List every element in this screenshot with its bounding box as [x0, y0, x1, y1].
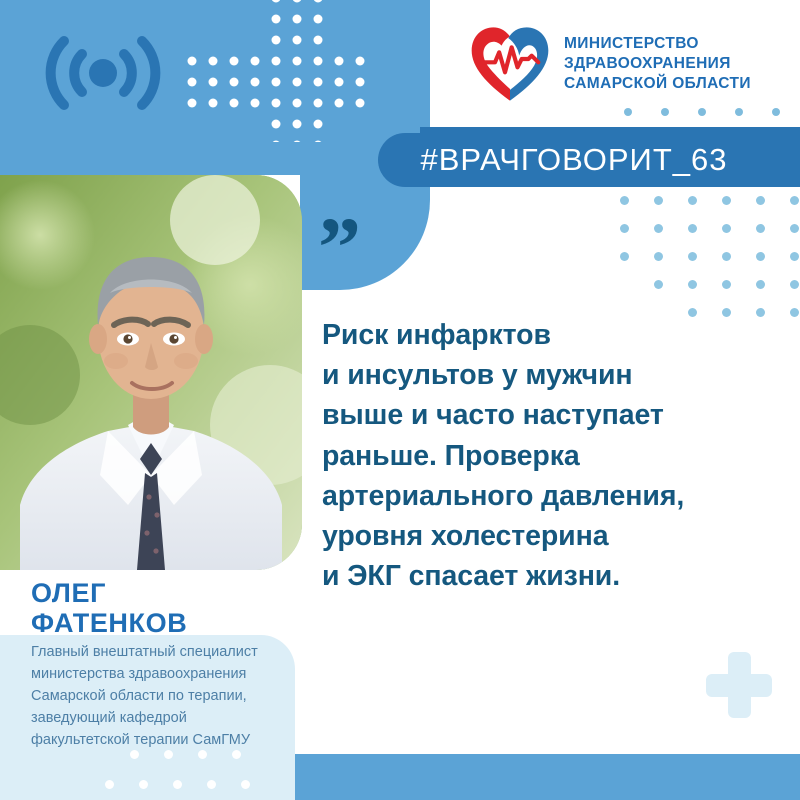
- dot: [772, 108, 780, 116]
- dot: [624, 108, 632, 116]
- hashtag-banner: #ВРАЧГОВОРИТ_63: [378, 133, 800, 187]
- poster-canvas: МИНИСТЕРСТВО ЗДРАВООХРАНЕНИЯ САМАРСКОЙ О…: [0, 0, 800, 800]
- dot-row: [105, 780, 250, 789]
- doctor-credentials: Главный внештатный специалист министерст…: [31, 641, 321, 751]
- dot: [198, 750, 207, 759]
- dot-row: [620, 224, 799, 233]
- heart-ecg-logo: [468, 24, 552, 104]
- logo-dot-row: [624, 108, 780, 116]
- dot: [722, 252, 731, 261]
- dot: [756, 224, 765, 233]
- dot: [756, 252, 765, 261]
- dot: [654, 252, 663, 261]
- dot: [790, 280, 799, 289]
- dot: [207, 780, 216, 789]
- dot: [164, 750, 173, 759]
- dot: [790, 224, 799, 233]
- dot: [735, 108, 743, 116]
- broadcast-signal-icon: [38, 28, 168, 118]
- dot: [173, 780, 182, 789]
- dot-row: [620, 196, 799, 205]
- hashtag-label: #ВРАЧГОВОРИТ_63: [421, 142, 766, 178]
- dot: [722, 224, 731, 233]
- doctor-name: ОЛЕГ ФАТЕНКОВ: [31, 578, 187, 638]
- ministry-line-2: ЗДРАВООХРАНЕНИЯ: [564, 54, 751, 74]
- dot-row: [620, 252, 799, 261]
- dot: [105, 780, 114, 789]
- dot: [790, 196, 799, 205]
- dotted-cross-pattern: [180, 0, 370, 142]
- doctor-portrait-photo: [0, 175, 302, 570]
- dot: [722, 196, 731, 205]
- credentials-dot-grid: [130, 750, 250, 800]
- dot-row: [654, 280, 799, 289]
- dot: [698, 108, 706, 116]
- dot: [620, 252, 629, 261]
- ministry-logo-text: МИНИСТЕРСТВО ЗДРАВООХРАНЕНИЯ САМАРСКОЙ О…: [564, 34, 751, 93]
- dot: [688, 280, 697, 289]
- ministry-line-1: МИНИСТЕРСТВО: [564, 34, 751, 54]
- dot: [688, 196, 697, 205]
- dot: [756, 196, 765, 205]
- dot: [620, 224, 629, 233]
- ministry-logo: МИНИСТЕРСТВО ЗДРАВООХРАНЕНИЯ САМАРСКОЙ О…: [468, 24, 751, 104]
- dot: [241, 780, 250, 789]
- dot: [139, 780, 148, 789]
- dot: [620, 196, 629, 205]
- dot: [654, 224, 663, 233]
- dot: [654, 280, 663, 289]
- dot: [790, 252, 799, 261]
- cross-bar-vertical: [728, 652, 751, 718]
- ministry-line-3: САМАРСКОЙ ОБЛАСТИ: [564, 74, 751, 94]
- dot: [688, 224, 697, 233]
- dot-row: [130, 750, 250, 759]
- quote-text: Риск инфарктов и инсультов у мужчин выше…: [322, 315, 792, 596]
- portrait-illustration: [0, 175, 302, 570]
- dot: [756, 280, 765, 289]
- dot: [130, 750, 139, 759]
- dot: [661, 108, 669, 116]
- dot: [722, 280, 731, 289]
- dot: [688, 252, 697, 261]
- medical-cross-icon: [706, 652, 772, 718]
- dot: [654, 196, 663, 205]
- quote-mark-icon: ”: [318, 222, 361, 274]
- dot: [232, 750, 241, 759]
